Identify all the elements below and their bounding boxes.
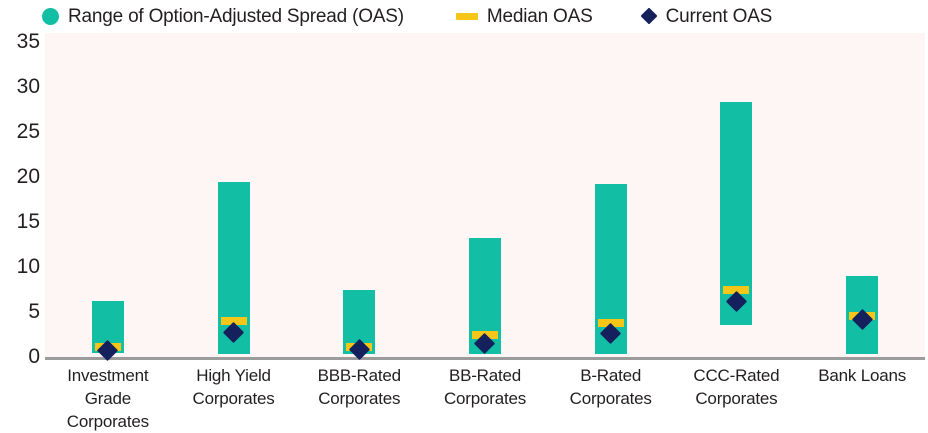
y-axis-tick-35: 35 (0, 31, 40, 52)
y-axis-tick-0: 0 (0, 346, 40, 367)
y-axis-tick-15: 15 (0, 211, 40, 232)
y-axis-tick-5: 5 (0, 301, 40, 322)
x-axis-labels: Investment GradeCorporatesHigh YieldCorp… (45, 364, 925, 416)
x-axis-label-line: Corporates (171, 387, 297, 410)
x-axis-label: BB-RatedCorporates (422, 364, 548, 410)
x-axis-label: Investment GradeCorporates (45, 364, 171, 433)
x-axis-label-line: Corporates (674, 387, 800, 410)
x-axis-label-line: Investment Grade (45, 364, 171, 410)
bar-group[interactable] (674, 0, 800, 416)
x-axis-label-line: B-Rated (548, 364, 674, 387)
x-axis-label: BBB-RatedCorporates (296, 364, 422, 410)
x-axis-label-line: BB-Rated (422, 364, 548, 387)
x-axis-label-line: CCC-Rated (674, 364, 800, 387)
x-axis-label-line: Corporates (422, 387, 548, 410)
x-axis-label-line: Corporates (296, 387, 422, 410)
bar-group[interactable] (171, 0, 297, 416)
y-axis-tick-20: 20 (0, 166, 40, 187)
y-axis-tick-25: 25 (0, 121, 40, 142)
x-axis-label: Bank Loans (799, 364, 925, 387)
y-axis-tick-10: 10 (0, 256, 40, 277)
bar-group[interactable] (548, 0, 674, 416)
x-axis-label-line: Corporates (548, 387, 674, 410)
bar-group[interactable] (45, 0, 171, 416)
x-axis-label-line: High Yield (171, 364, 297, 387)
x-axis-label: CCC-RatedCorporates (674, 364, 800, 410)
chart-root: Range of Option-Adjusted Spread (OAS) Me… (0, 0, 928, 416)
x-axis-label: High YieldCorporates (171, 364, 297, 410)
bars-layer (45, 0, 925, 416)
bar-group[interactable] (422, 0, 548, 416)
x-axis-label: B-RatedCorporates (548, 364, 674, 410)
bar-group[interactable] (296, 0, 422, 416)
x-axis-label-line: BBB-Rated (296, 364, 422, 387)
bar-group[interactable] (799, 0, 925, 416)
y-axis-tick-30: 30 (0, 76, 40, 97)
x-axis-label-line: Bank Loans (799, 364, 925, 387)
x-axis-label-line: Corporates (45, 410, 171, 433)
y-axis: 35302520151050 (0, 0, 40, 416)
